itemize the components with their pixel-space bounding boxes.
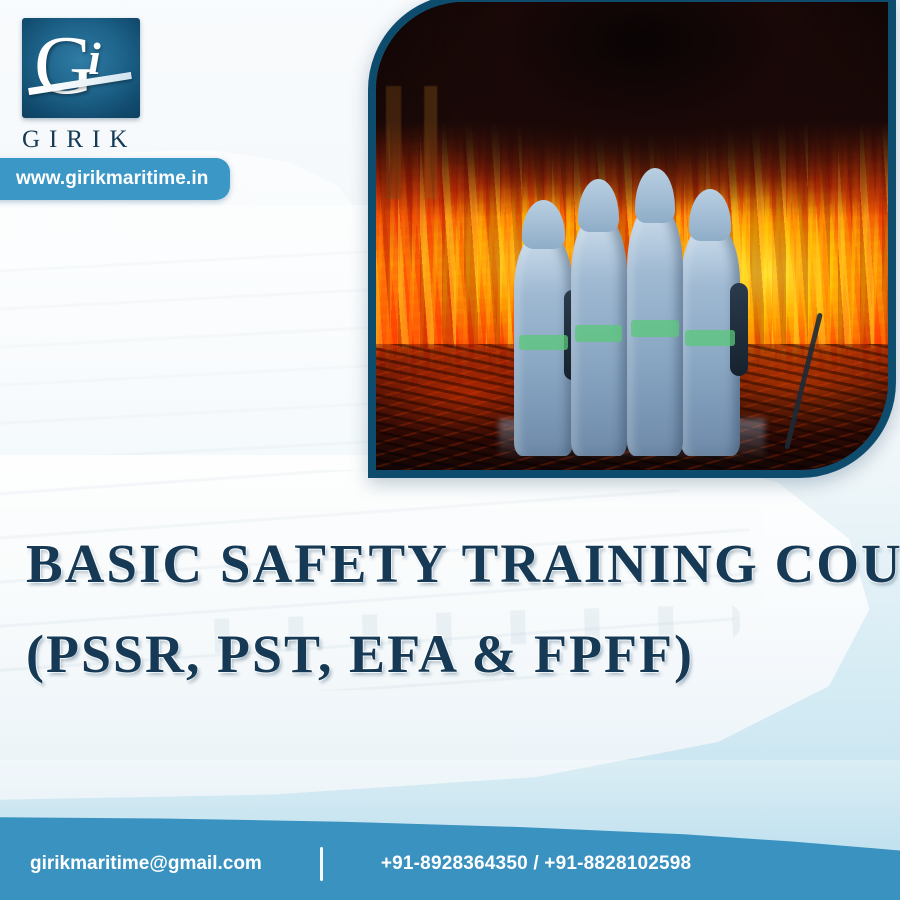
firefighter-1 (514, 231, 573, 456)
suit-stripe (685, 330, 734, 346)
promo-poster: G i GIRIK www.girikmaritime.in BASIC SAF… (0, 0, 900, 900)
headline-line-2: (PSSR, PST, EFA & FPFF) (26, 627, 900, 681)
contact-email[interactable]: girikmaritime@gmail.com (30, 853, 262, 875)
firefighter-2 (571, 213, 627, 456)
firefighter-3 (627, 203, 683, 456)
ship-funnels (10, 196, 180, 266)
contact-footer-content: girikmaritime@gmail.com +91-8928364350 /… (0, 828, 900, 900)
firefighters-photo (376, 2, 888, 470)
contact-phone-numbers[interactable]: +91-8928364350 / +91-8828102598 (381, 853, 692, 875)
background-structure (386, 86, 468, 198)
website-url-badge[interactable]: www.girikmaritime.in (0, 158, 230, 200)
headline-block: BASIC SAFETY TRAINING COURSE (PSSR, PST,… (0, 536, 900, 681)
firefighter-4 (681, 222, 740, 456)
suit-stripe (631, 320, 678, 338)
girik-logo-icon: G i (22, 18, 140, 118)
brand-logo[interactable]: G i GIRIK (22, 18, 152, 154)
suit-stripe (575, 325, 622, 342)
footer-divider (320, 847, 323, 881)
logo-letter-i: i (88, 36, 101, 82)
suit-stripe (519, 335, 568, 351)
logo-wordmark: GIRIK (22, 126, 152, 154)
firefighters-photo-frame (368, 0, 896, 478)
logo-letter-g: G (34, 24, 95, 108)
headline-line-1: BASIC SAFETY TRAINING COURSE (26, 536, 900, 591)
